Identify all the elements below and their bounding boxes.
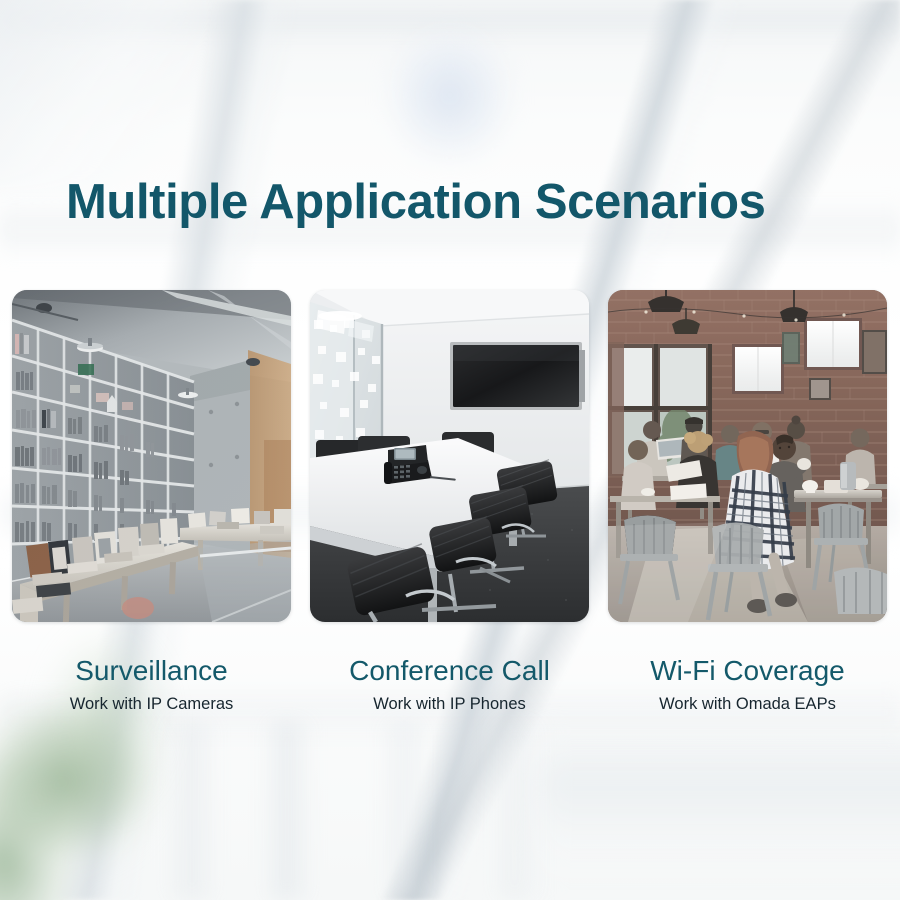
application-scenarios-page: Multiple Application Scenarios [0,0,900,900]
page-title: Multiple Application Scenarios [66,176,766,229]
photo-meeting-room-conference-call [310,290,589,622]
scenario-card-surveillance[interactable]: Surveillance Work with IP Cameras [12,290,291,715]
photo-bookstore-surveillance [12,290,291,622]
caption-conference-call: Conference Call Work with IP Phones [310,622,589,715]
background-blue-blur [390,30,510,160]
caption-subtitle-surveillance: Work with IP Cameras [12,695,291,715]
caption-title-conference-call: Conference Call [310,656,589,687]
caption-subtitle-conference-call: Work with IP Phones [310,695,589,715]
photo-cafe-wifi-coverage [608,290,887,622]
scenario-card-wifi-coverage[interactable]: Wi-Fi Coverage Work with Omada EAPs [608,290,887,715]
background-corner-glow [0,0,200,190]
scenario-card-conference-call[interactable]: Conference Call Work with IP Phones [310,290,589,715]
scenario-card-row: Surveillance Work with IP Cameras [12,290,888,715]
background-plant-icon [0,700,230,900]
caption-surveillance: Surveillance Work with IP Cameras [12,622,291,715]
caption-title-wifi-coverage: Wi-Fi Coverage [608,656,887,687]
caption-title-surveillance: Surveillance [12,656,291,687]
background-soft-right-blur [540,720,900,900]
caption-subtitle-wifi-coverage: Work with Omada EAPs [608,695,887,715]
caption-wifi-coverage: Wi-Fi Coverage Work with Omada EAPs [608,622,887,715]
